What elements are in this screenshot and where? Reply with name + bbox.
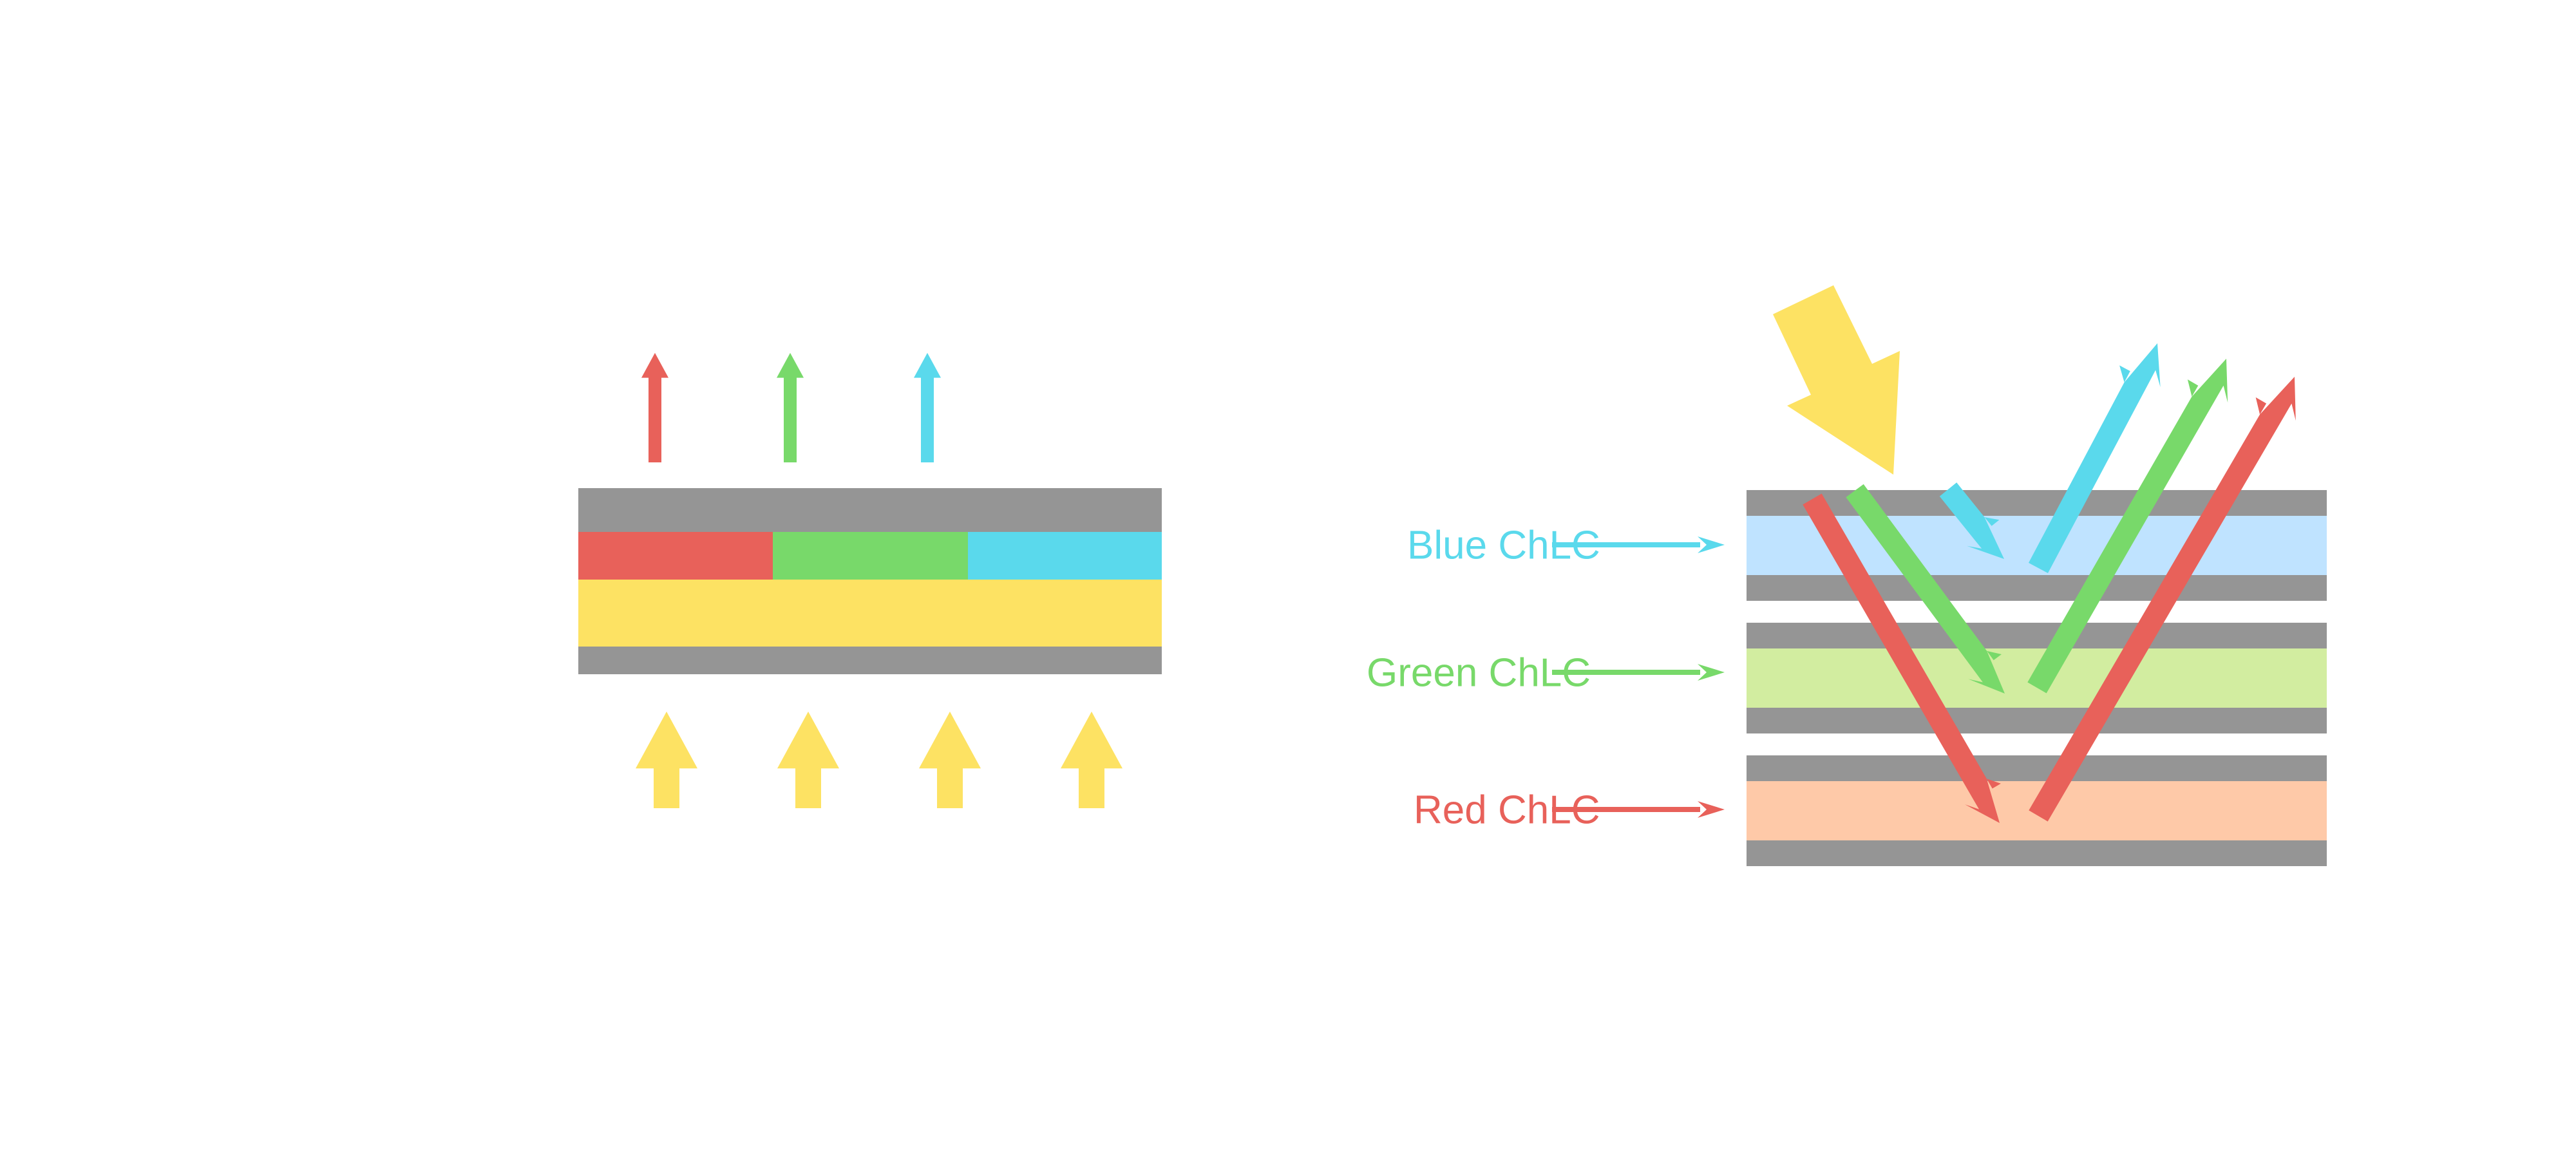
- bottom-gray-electrode: [578, 647, 1162, 674]
- blue-label-pointer-head: [1698, 536, 1725, 553]
- cyan-emitted-arrow: [914, 353, 941, 462]
- green-label-pointer-head: [1698, 664, 1725, 681]
- green-chlc-cell-top-electrode: [1747, 623, 2327, 648]
- yellow-emitter: [578, 580, 1162, 647]
- diagram-canvas: Blue ChLCGreen ChLCRed ChLC: [0, 0, 2576, 1154]
- red-emitted-arrow: [641, 353, 668, 462]
- backlight-arrow-2: [777, 712, 839, 808]
- blue-chlc-cell-top-electrode: [1747, 490, 2327, 516]
- green-chlc-cell-bottom-electrode: [1747, 708, 2327, 733]
- red-filter: [578, 532, 773, 580]
- red-chlc-cell-bottom-electrode: [1747, 840, 2327, 866]
- top-gray-electrode: [578, 488, 1162, 532]
- blue-chlc-cell-bottom-electrode: [1747, 575, 2327, 601]
- red-label-pointer-head: [1698, 801, 1725, 818]
- backlight-arrow-1: [636, 712, 697, 808]
- backlight-arrow-3: [919, 712, 981, 808]
- green-filter: [773, 532, 968, 580]
- backlight-arrow-4: [1061, 712, 1122, 808]
- diagram-svg: Blue ChLCGreen ChLCRed ChLC: [0, 0, 2576, 1154]
- green-emitted-arrow: [777, 353, 804, 462]
- blue-filter: [968, 532, 1162, 580]
- red-chlc-cell-top-electrode: [1747, 755, 2327, 781]
- ambient-light-arrow: [1773, 285, 1900, 475]
